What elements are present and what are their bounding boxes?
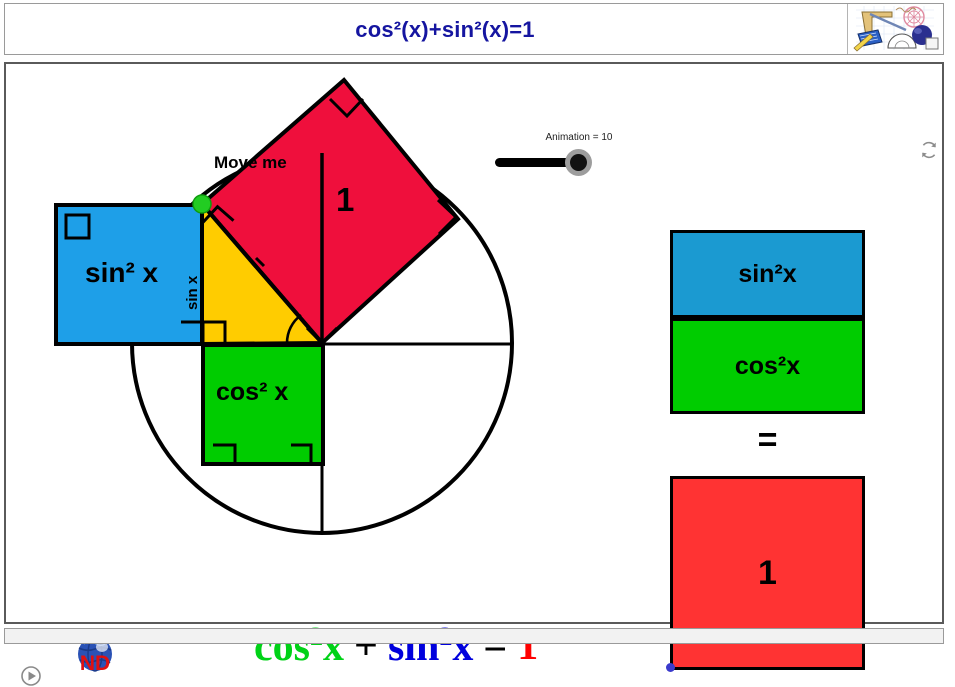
cos-squared-block[interactable]: cos²x [670,318,865,414]
geometry-tools-clipart-icon [847,4,943,54]
play-icon[interactable] [20,665,42,687]
anchor-point[interactable] [666,663,675,672]
drag-point-label: Move me [214,153,287,172]
sin-squared-block[interactable]: sin²x [670,230,865,318]
cos-squared-label: cos² x [216,378,288,406]
unit-radius-label: 1 [336,181,354,218]
equals-sign: = [670,420,865,460]
sin-segment-label: sin x [184,275,201,310]
page-title: cos²(x)+sin²(x)=1 [5,4,885,56]
status-bar [4,628,944,644]
applet-canvas[interactable]: Animation = 10 [4,62,944,624]
sin-squared-block-label: sin²x [738,260,796,289]
total-one-label: 1 [758,554,777,593]
sin-squared-label: sin² x [85,257,159,288]
title-bar: cos²(x)+sin²(x)=1 [4,3,944,55]
applet-window: cos²(x)+sin²(x)=1 [0,0,955,656]
drag-point[interactable] [193,195,211,213]
cos-squared-block-label: cos²x [735,352,800,381]
svg-text:ND: ND [80,652,110,675]
